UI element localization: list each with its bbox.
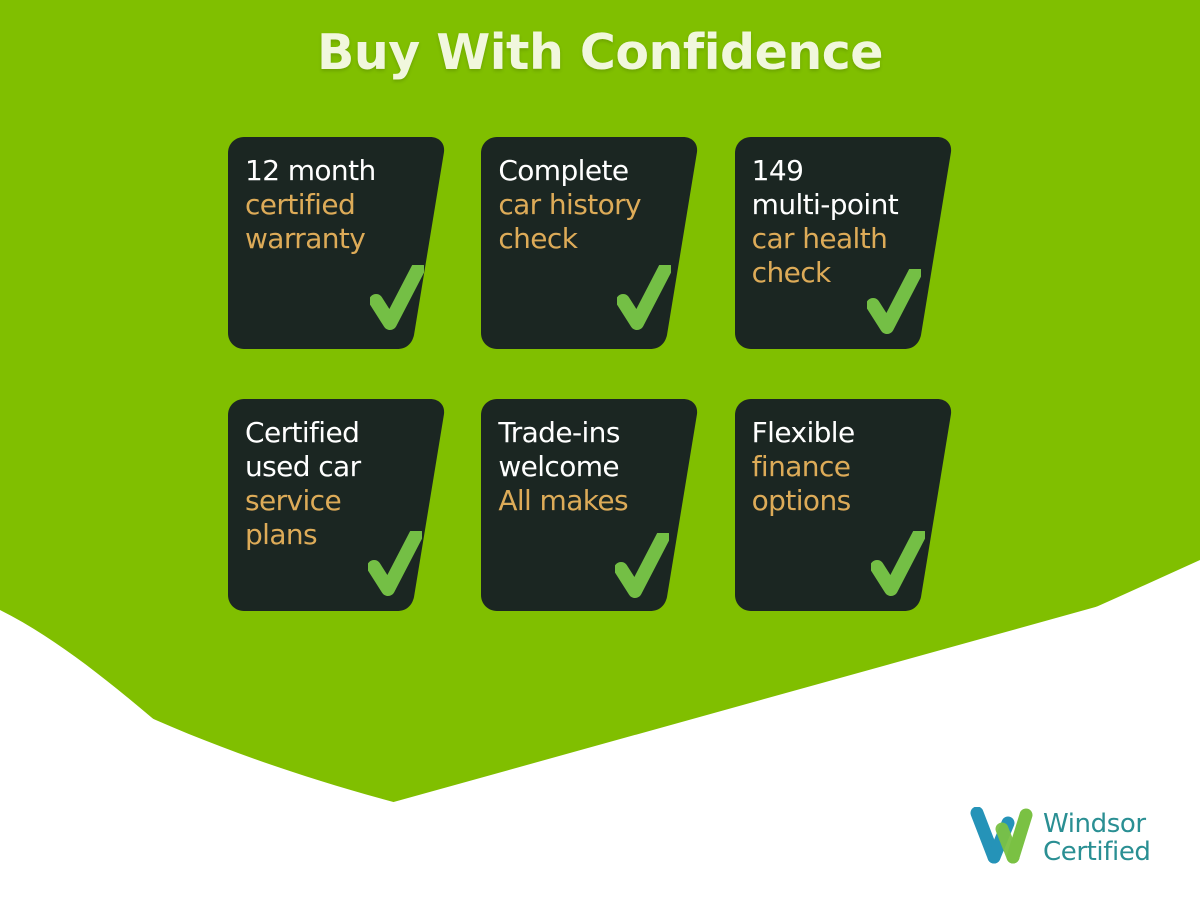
- card-line: Trade-ins: [498, 416, 673, 450]
- card-slot: 149 multi-point car health check: [735, 137, 988, 349]
- logo-line-windsor: Windsor: [1043, 811, 1151, 837]
- card-slot: Complete car history check: [481, 137, 734, 349]
- card-line: car history: [498, 188, 673, 222]
- card-slot: Certified used car service plans: [228, 399, 481, 611]
- card-text: Flexible finance options: [752, 416, 927, 518]
- card-line: finance: [752, 450, 927, 484]
- card-line: Flexible: [752, 416, 927, 450]
- card-line: warranty: [245, 222, 420, 256]
- card-text: 12 month certified warranty: [245, 154, 420, 256]
- card-slot: Trade-ins welcome All makes: [481, 399, 734, 611]
- green-check-icon: [617, 265, 671, 331]
- benefit-card-warranty[interactable]: 12 month certified warranty: [228, 137, 446, 349]
- benefits-row-1: 12 month certified warranty Comp: [228, 137, 988, 349]
- benefit-card-trade-ins[interactable]: Trade-ins welcome All makes: [481, 399, 699, 611]
- green-check-icon: [615, 533, 669, 599]
- card-line: car health: [752, 222, 927, 256]
- green-check-icon: [368, 531, 422, 597]
- card-line: multi-point: [752, 188, 927, 222]
- windsor-certified-logo[interactable]: Windsor Certified: [968, 807, 1151, 869]
- green-check-icon: [871, 531, 925, 597]
- card-line: check: [498, 222, 673, 256]
- green-check-icon: [867, 269, 921, 335]
- card-line: Certified: [245, 416, 420, 450]
- card-slot: 12 month certified warranty: [228, 137, 481, 349]
- green-check-icon: [370, 265, 424, 331]
- windsor-w-icon: [968, 807, 1036, 869]
- card-line: 149: [752, 154, 927, 188]
- card-line: 12 month: [245, 154, 420, 188]
- card-line: options: [752, 484, 927, 518]
- logo-wordmark: Windsor Certified: [1043, 811, 1151, 865]
- card-line: used car: [245, 450, 420, 484]
- benefit-card-service-plans[interactable]: Certified used car service plans: [228, 399, 446, 611]
- card-line: welcome: [498, 450, 673, 484]
- card-text: Complete car history check: [498, 154, 673, 256]
- benefits-row-2: Certified used car service plans: [228, 399, 988, 611]
- benefit-card-finance[interactable]: Flexible finance options: [735, 399, 953, 611]
- benefit-card-health-check[interactable]: 149 multi-point car health check: [735, 137, 953, 349]
- card-line: certified: [245, 188, 420, 222]
- benefit-card-history-check[interactable]: Complete car history check: [481, 137, 699, 349]
- page-title: Buy With Confidence: [0, 24, 1200, 81]
- card-slot: Flexible finance options: [735, 399, 988, 611]
- card-line: service: [245, 484, 420, 518]
- card-line: All makes: [498, 484, 673, 518]
- benefits-grid: 12 month certified warranty Comp: [228, 137, 988, 611]
- logo-line-certified: Certified: [1043, 839, 1151, 865]
- card-line: Complete: [498, 154, 673, 188]
- card-text: Trade-ins welcome All makes: [498, 416, 673, 518]
- poster-canvas: Buy With Confidence 12 month certified w…: [0, 0, 1200, 900]
